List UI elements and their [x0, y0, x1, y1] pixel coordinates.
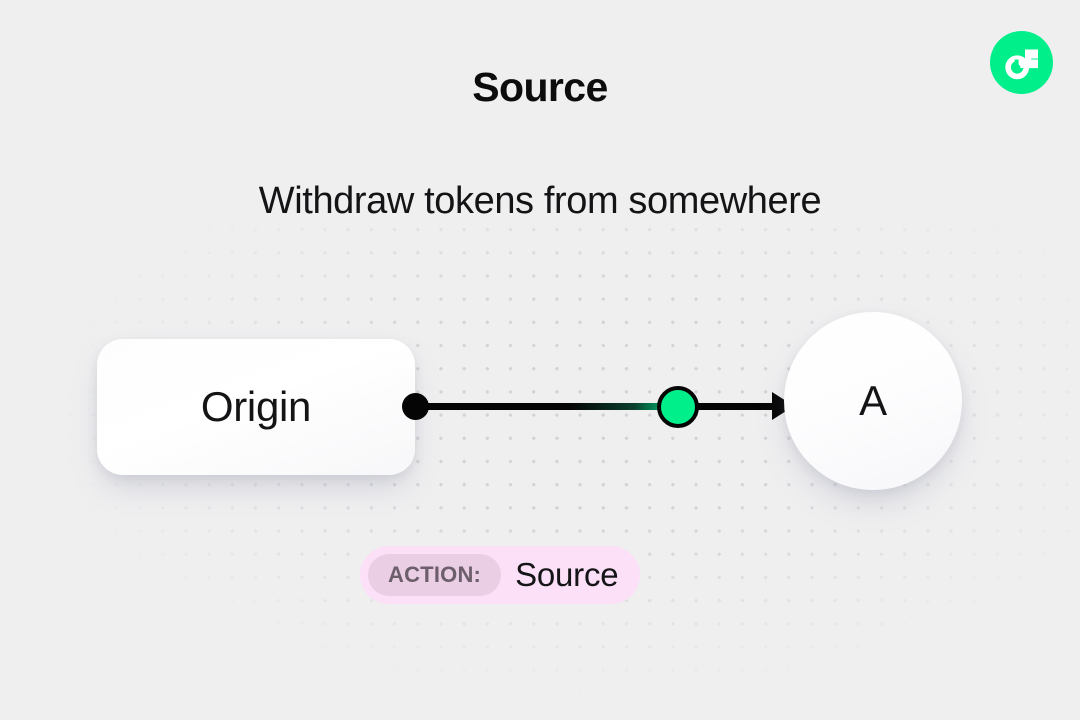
edge-line-right — [690, 403, 775, 410]
edge-source-dot-icon[interactable] — [402, 393, 429, 420]
action-value: Source — [515, 556, 618, 594]
page-title: Source — [0, 64, 1080, 111]
arrow-right-icon — [772, 392, 794, 420]
edge-midpoint-dot-icon[interactable] — [657, 386, 699, 428]
node-a-label: A — [859, 377, 887, 425]
page-subtitle: Withdraw tokens from somewhere — [0, 180, 1080, 223]
dot-grid-background — [0, 212, 1080, 720]
action-chip-label: ACTION: — [368, 554, 501, 596]
action-badge: ACTION: Source — [360, 546, 640, 604]
edge-line — [415, 403, 696, 410]
node-origin[interactable]: Origin — [97, 339, 415, 475]
node-a[interactable]: A — [784, 312, 962, 490]
node-origin-label: Origin — [201, 383, 311, 431]
flow-logo-icon — [990, 31, 1053, 94]
